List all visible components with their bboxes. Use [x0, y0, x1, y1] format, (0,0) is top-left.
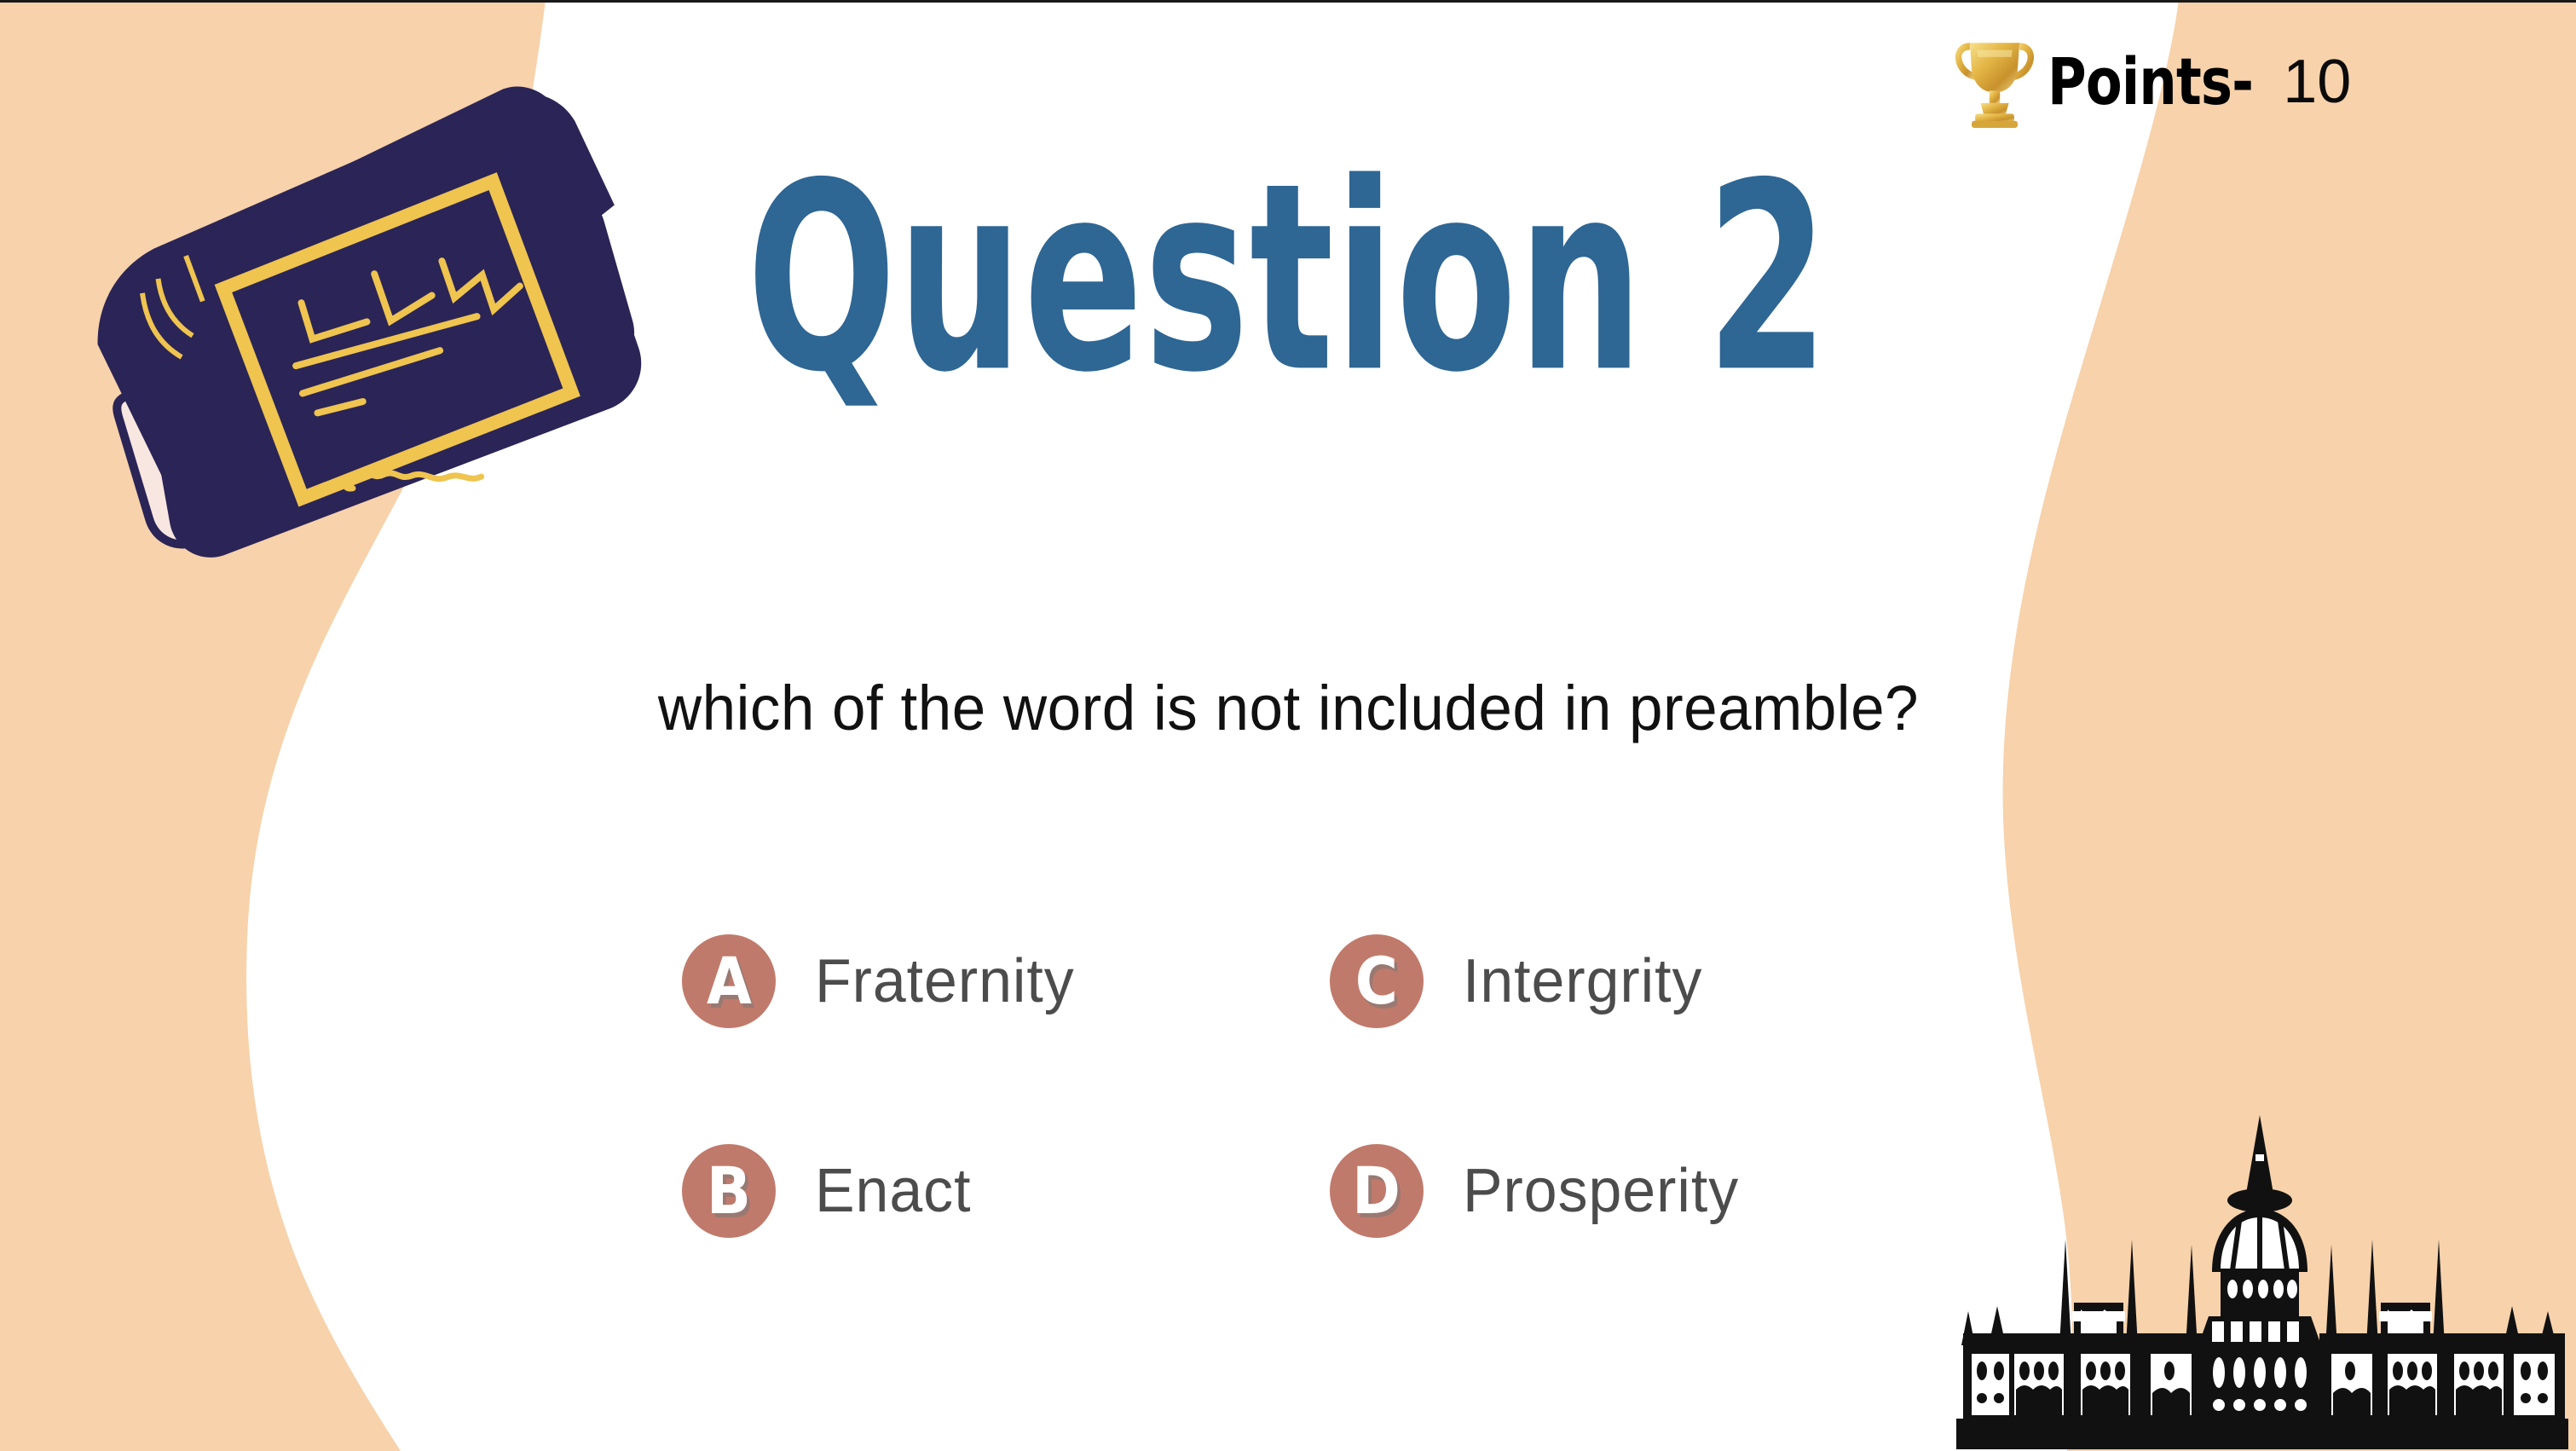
- points-badge: Points- 10: [1950, 36, 2351, 128]
- top-edge-line: [0, 0, 2576, 3]
- option-letter-c: C: [1355, 949, 1398, 1014]
- trophy-icon: [1950, 36, 2039, 128]
- option-letter-d: D: [1353, 1159, 1401, 1223]
- option-letter-a: A: [707, 949, 752, 1014]
- option-label-d: Prosperity: [1463, 1160, 1739, 1222]
- question-text-value: which of the word is not included in pre…: [657, 673, 1918, 743]
- page-title-text: Question 2: [747, 149, 1829, 408]
- answer-option-b[interactable]: B Enact: [682, 1086, 1330, 1296]
- page-title: Question 2: [0, 167, 2576, 390]
- question-text: which of the word is not included in pre…: [0, 673, 2576, 743]
- option-badge-c[interactable]: C: [1330, 934, 1424, 1028]
- option-letter-b: B: [707, 1159, 751, 1223]
- answer-options-grid: A Fraternity C Intergrity B Enact D Pros…: [682, 876, 1978, 1296]
- option-badge-d[interactable]: D: [1330, 1144, 1424, 1238]
- answer-option-c[interactable]: C Intergrity: [1330, 876, 1978, 1086]
- answer-option-d[interactable]: D Prosperity: [1330, 1086, 1978, 1296]
- option-label-b: Enact: [815, 1160, 971, 1222]
- option-label-a: Fraternity: [815, 951, 1075, 1012]
- points-label: Points-: [2048, 49, 2253, 114]
- building-base: [1956, 1419, 2568, 1449]
- parliament-building-icon: [1956, 1101, 2570, 1451]
- points-value: 10: [2283, 51, 2351, 113]
- answer-option-a[interactable]: A Fraternity: [682, 876, 1330, 1086]
- option-badge-b[interactable]: B: [682, 1144, 776, 1238]
- option-badge-a[interactable]: A: [682, 934, 776, 1028]
- option-label-c: Intergrity: [1463, 951, 1702, 1012]
- quiz-slide: Points- 10 Question 2 which of the word …: [0, 0, 2576, 1451]
